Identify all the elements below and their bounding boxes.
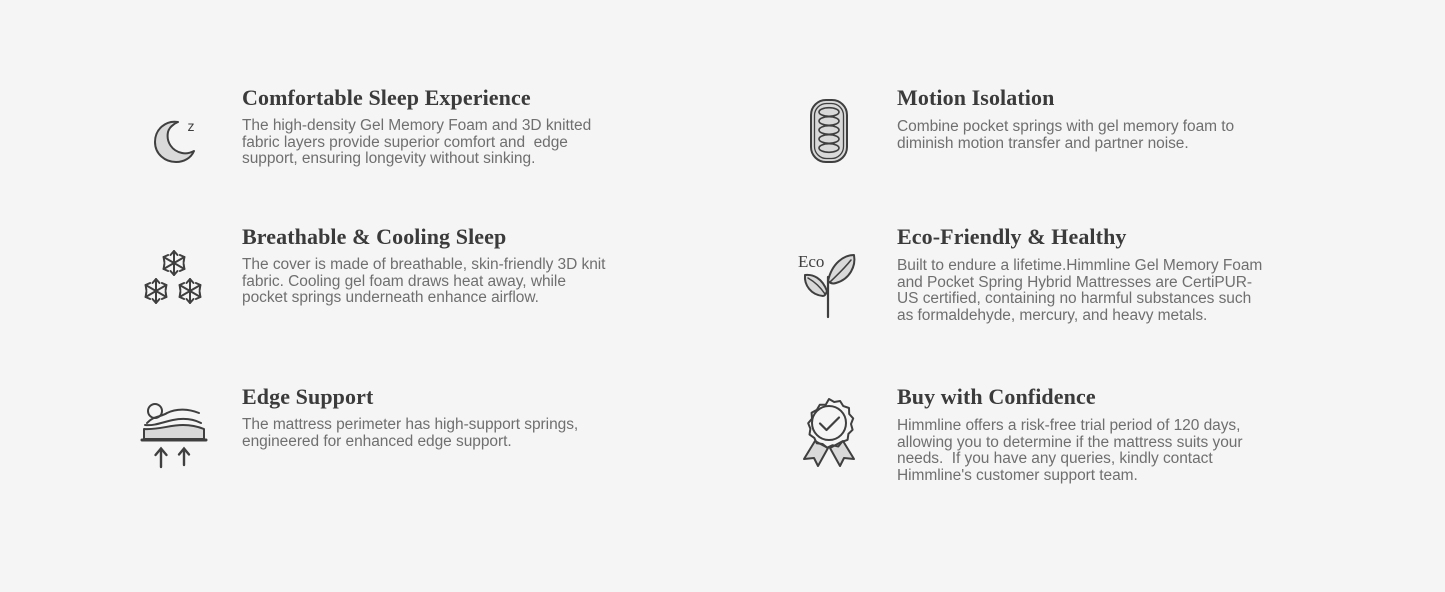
feature-text-block: Breathable & Cooling Sleep The cover is … — [242, 225, 614, 307]
feature-text-block: Buy with Confidence Himmline offers a ri… — [897, 385, 1269, 484]
feature-description: The high-density Gel Memory Foam and 3D … — [242, 118, 614, 168]
feature-title: Breathable & Cooling Sleep — [242, 225, 614, 249]
feature-description: Himmline offers a risk-free trial period… — [897, 418, 1269, 484]
feature-text-block: Eco-Friendly & Healthy Built to endure a… — [897, 225, 1269, 324]
eco-leaf-sprout-icon: Eco — [793, 225, 865, 325]
feature-description: The cover is made of breathable, skin-fr… — [242, 257, 614, 307]
feature-title: Edge Support — [242, 385, 614, 409]
feature-item-motion-isolation: Motion Isolation Combine pocket springs … — [793, 86, 1269, 174]
feature-item-comfortable-sleep-experience: z Comfortable Sleep Experience The high-… — [138, 86, 614, 190]
feature-item-eco-friendly-healthy: Eco Eco-Friendly & Healthy Built to endu… — [793, 225, 1269, 325]
feature-text-block: Comfortable Sleep Experience The high-de… — [242, 86, 614, 168]
feature-title: Motion Isolation — [897, 86, 1269, 110]
feature-description: Combine pocket springs with gel memory f… — [897, 119, 1269, 152]
feature-title: Comfortable Sleep Experience — [242, 86, 614, 110]
snowflakes-icon — [138, 225, 210, 325]
feature-text-block: Motion Isolation Combine pocket springs … — [897, 86, 1269, 152]
pocket-spring-icon — [793, 86, 865, 174]
person-on-mattress-arrows-icon — [138, 385, 210, 477]
feature-highlights-grid: z Comfortable Sleep Experience The high-… — [0, 0, 1445, 592]
feature-title: Eco-Friendly & Healthy — [897, 225, 1269, 249]
feature-description: Built to endure a lifetime.Himmline Gel … — [897, 258, 1269, 324]
crescent-moon-z-icon: z — [138, 86, 210, 190]
feature-item-edge-support: Edge Support The mattress perimeter has … — [138, 385, 614, 477]
feature-title: Buy with Confidence — [897, 385, 1269, 409]
eco-label: Eco — [798, 252, 824, 271]
moon-z-label: z — [188, 118, 195, 134]
award-rosette-check-icon — [793, 385, 865, 475]
feature-description: The mattress perimeter has high-support … — [242, 417, 614, 450]
feature-item-buy-with-confidence: Buy with Confidence Himmline offers a ri… — [793, 385, 1269, 484]
feature-text-block: Edge Support The mattress perimeter has … — [242, 385, 614, 450]
feature-item-breathable-cooling-sleep: Breathable & Cooling Sleep The cover is … — [138, 225, 614, 325]
